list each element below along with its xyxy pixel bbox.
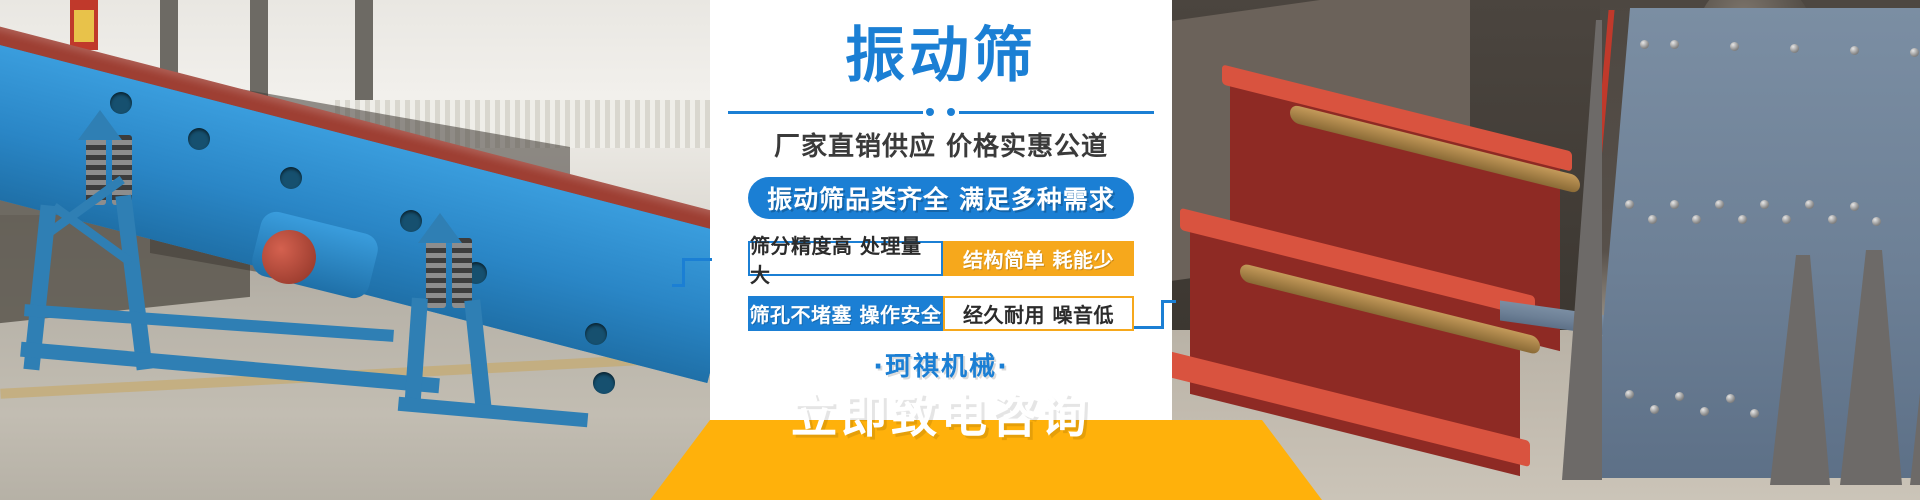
body-bolt-hole (280, 167, 302, 189)
product-banner: 振动筛 厂家直销供应 价格实惠公道 振动筛品类齐全 满足多种需求 筛分精度高 处… (0, 0, 1920, 500)
banner-subtitle: 厂家直销供应 价格实惠公道 (710, 126, 1172, 163)
brand-name: ·珂祺机械· (710, 346, 1172, 383)
feature-2-right: 经久耐用 噪音低 (943, 296, 1134, 331)
feature-row-1: 筛分精度高 处理量大 结构简单 耗能少 (748, 241, 1134, 276)
highlight-pill: 振动筛品类齐全 满足多种需求 (748, 177, 1134, 219)
feature-1-left: 筛分精度高 处理量大 (748, 241, 943, 276)
product-photo-left (0, 0, 715, 500)
feature-1-right: 结构简单 耗能少 (943, 241, 1134, 276)
divider-dot-icon (926, 108, 934, 116)
body-bolt-hole (593, 372, 615, 394)
feature-row-2: 筛孔不堵塞 操作安全 经久耐用 噪音低 (748, 296, 1134, 331)
spring-bracket (78, 110, 122, 140)
title-divider (728, 106, 1154, 118)
connector-elbow-left (672, 258, 712, 290)
feature-2-left: 筛孔不堵塞 操作安全 (748, 296, 943, 331)
divider-dot-icon (947, 108, 955, 116)
spring-bracket (418, 213, 462, 243)
body-bolt-hole (188, 128, 210, 150)
wall-beam (250, 0, 268, 104)
damper-spring (426, 238, 446, 308)
wall-sign (70, 0, 98, 50)
center-text-panel: 振动筛 厂家直销供应 价格实惠公道 振动筛品类齐全 满足多种需求 筛分精度高 处… (710, 0, 1172, 444)
body-bolt-hole (585, 323, 607, 345)
page-title: 振动筛 (710, 26, 1172, 86)
damper-spring (452, 238, 472, 308)
product-photo-right (1170, 0, 1920, 500)
eccentric-drum-face (262, 230, 316, 284)
cta-text[interactable]: 立即致电咨询 (710, 380, 1172, 446)
connector-elbow-right (1134, 300, 1176, 332)
